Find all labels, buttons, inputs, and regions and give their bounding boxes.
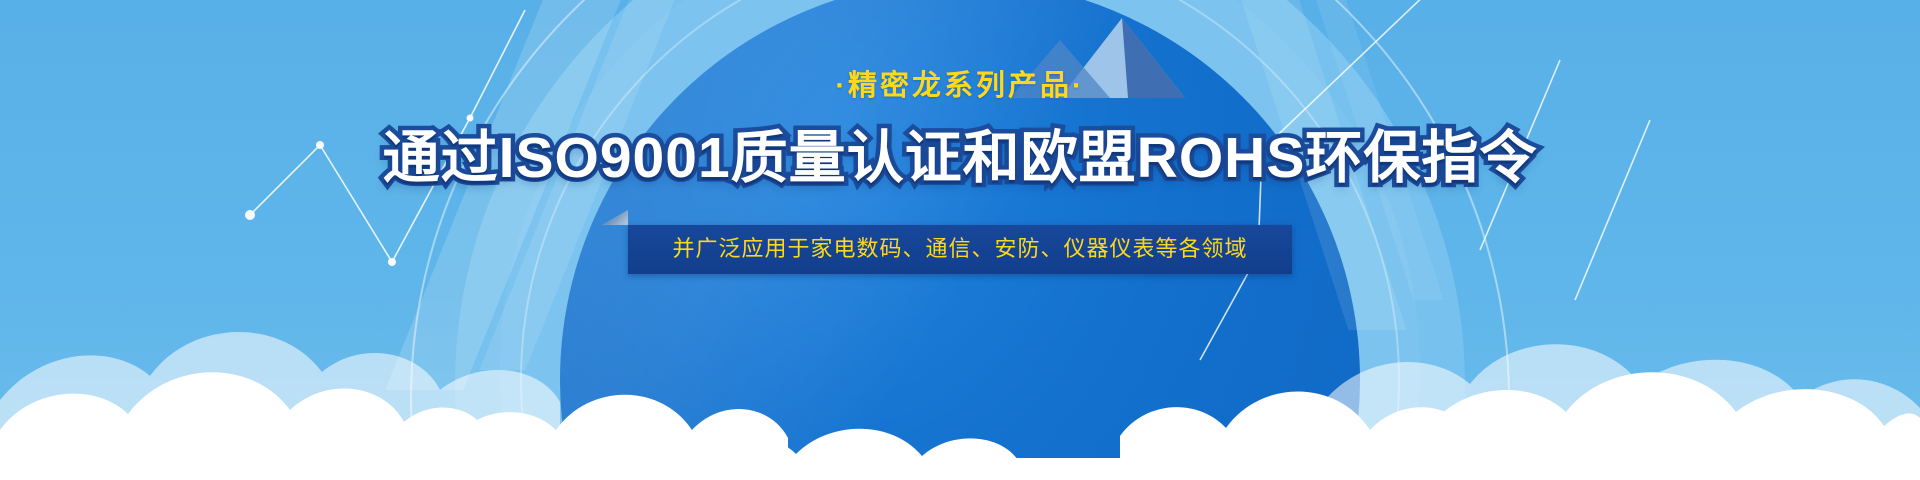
banner-content: ·精密龙系列产品· 通过ISO9001质量认证和欧盟ROHS环保指令 并广泛应用… [0, 0, 1920, 274]
banner-kicker: ·精密龙系列产品· [0, 72, 1920, 101]
banner-headline: 通过ISO9001质量认证和欧盟ROHS环保指令 [0, 129, 1920, 189]
ribbon-container: 并广泛应用于家电数码、通信、安防、仪器仪表等各领域 [628, 225, 1291, 274]
promo-banner: ·精密龙系列产品· 通过ISO9001质量认证和欧盟ROHS环保指令 并广泛应用… [0, 0, 1920, 480]
cloud-silhouette-bottom [0, 280, 1920, 480]
banner-ribbon-text: 并广泛应用于家电数码、通信、安防、仪器仪表等各领域 [628, 225, 1291, 274]
